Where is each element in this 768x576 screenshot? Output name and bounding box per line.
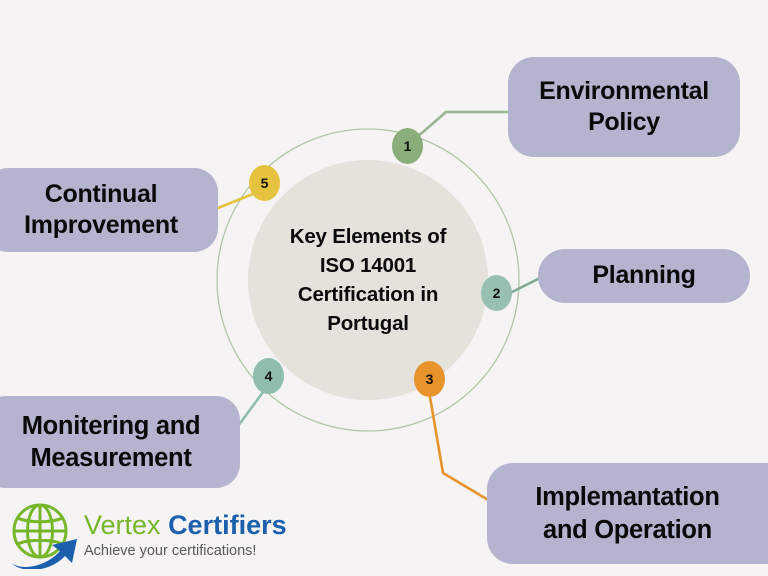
node-number-1: 1	[404, 138, 412, 154]
label-monitoring-and-measurement-text: Monitering and Measurement	[22, 410, 201, 474]
center-hub-line-1: Key Elements of	[261, 222, 476, 251]
logo-brand: Vertex Certifiers	[84, 511, 287, 539]
center-hub: Key Elements of ISO 14001 Certification …	[248, 160, 488, 400]
center-hub-line-3: Certification in	[261, 280, 476, 309]
label-3-line-1: Implemantation	[535, 481, 719, 513]
label-3-line-2: and Operation	[535, 514, 719, 546]
node-number-5: 5	[261, 175, 269, 191]
label-implementation-and-operation[interactable]: Implemantation and Operation	[487, 463, 768, 564]
node-number-2: 2	[493, 285, 501, 301]
node-number-4: 4	[265, 368, 273, 384]
infographic-canvas: Key Elements of ISO 14001 Certification …	[0, 0, 768, 576]
node-number-3: 3	[426, 371, 434, 387]
label-continual-improvement[interactable]: Continual Improvement	[0, 168, 218, 252]
label-continual-improvement-text: Continual Improvement	[24, 179, 178, 242]
label-2-line-1: Planning	[592, 260, 695, 292]
logo-brand-part-2: Certifiers	[168, 510, 287, 540]
vertex-certifiers-logo: Vertex Certifiers Achieve your certifica…	[8, 499, 294, 571]
label-4-line-2: Measurement	[22, 442, 201, 474]
label-1-line-1: Environmental	[539, 76, 709, 108]
label-implementation-and-operation-text: Implemantation and Operation	[535, 481, 719, 545]
node-marker-5[interactable]: 5	[249, 165, 280, 201]
center-hub-line-4: Portugal	[261, 309, 476, 338]
label-environmental-policy[interactable]: Environmental Policy	[508, 57, 740, 157]
globe-with-arrow-icon	[8, 501, 80, 569]
node-marker-1[interactable]: 1	[392, 128, 423, 164]
label-5-line-2: Improvement	[24, 210, 178, 242]
label-planning-text: Planning	[592, 260, 695, 292]
label-4-line-1: Monitering and	[22, 410, 201, 442]
label-1-line-2: Policy	[539, 107, 709, 139]
node-marker-3[interactable]: 3	[414, 361, 445, 397]
label-monitoring-and-measurement[interactable]: Monitering and Measurement	[0, 396, 240, 488]
node-marker-2[interactable]: 2	[481, 275, 512, 311]
label-planning[interactable]: Planning	[538, 249, 750, 303]
label-5-line-1: Continual	[24, 179, 178, 211]
center-hub-line-2: ISO 14001	[261, 251, 476, 280]
logo-brand-part-1: Vertex	[84, 510, 161, 540]
connector-1	[408, 112, 512, 145]
label-environmental-policy-text: Environmental Policy	[539, 76, 709, 139]
logo-wordmark: Vertex Certifiers Achieve your certifica…	[84, 511, 287, 558]
logo-tagline: Achieve your certifications!	[84, 543, 287, 559]
node-marker-4[interactable]: 4	[253, 358, 284, 394]
center-hub-title: Key Elements of ISO 14001 Certification …	[261, 222, 476, 338]
